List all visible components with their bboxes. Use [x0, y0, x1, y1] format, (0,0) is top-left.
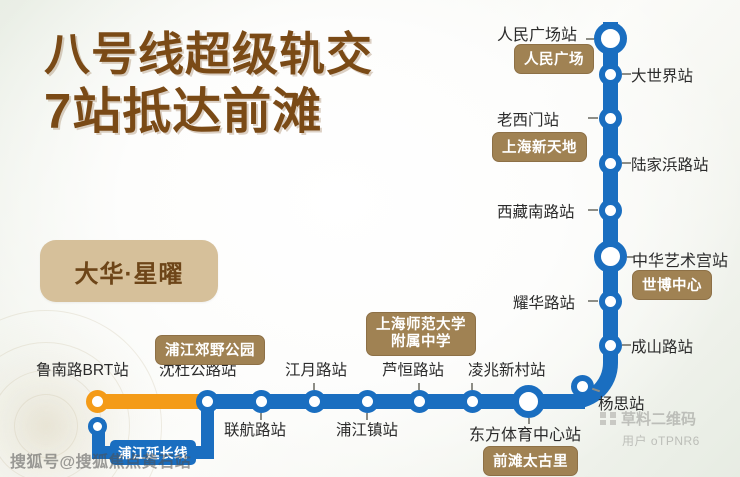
badge-line-2: 附属中学: [391, 334, 451, 350]
watermark-sohu: 搜狐号@搜狐焦点黄石站: [10, 448, 191, 472]
landmark-badge-qiantan-taikooli: 前滩太古里: [483, 446, 578, 476]
station-label-lianhang-lu: 联航路站: [224, 418, 286, 440]
station-dot-renmin-guangchang[interactable]: [594, 22, 627, 55]
station-dot-luheng-lu[interactable]: [408, 390, 431, 413]
station-tick: [622, 344, 631, 346]
badge-line-1: 上海师范大学: [376, 317, 466, 333]
station-tick: [586, 38, 594, 40]
brand-name: 大华·星曜: [75, 254, 184, 289]
station-label-renmin-guangchang: 人民广场站: [497, 21, 577, 45]
station-dot-lingzhao-xincun[interactable]: [461, 390, 484, 413]
station-label-laoximen: 老西门站: [497, 108, 559, 130]
station-label-zhonghua-yishugong: 中华艺术宫站: [632, 247, 728, 271]
station-tick: [471, 383, 473, 390]
landmark-badge-shanghai-shifan-fuzhong: 上海师范大学 附属中学: [366, 312, 476, 356]
station-dot-chengshan-lu[interactable]: [599, 334, 622, 357]
brand-chip: 大华·星曜: [40, 240, 218, 302]
headline-block: 八号线超级轨交 7站抵达前滩: [44, 30, 464, 139]
station-dot-yaohua-lu[interactable]: [599, 290, 622, 313]
station-dot-lujiabang-lu[interactable]: [599, 152, 622, 175]
station-dot-xizang-nanlu[interactable]: [599, 199, 622, 222]
watermark-qr-user: 用户 oTPNR6: [622, 432, 732, 449]
station-dot-laoximen[interactable]: [599, 107, 622, 130]
station-dot-jiangyue-lu[interactable]: [303, 390, 326, 413]
station-label-luheng-lu: 芦恒路站: [382, 358, 444, 380]
station-dot-zhonghua-yishugong[interactable]: [594, 240, 627, 273]
station-label-dongfang-tiyu-zhongxin: 东方体育中心站: [469, 421, 581, 445]
station-tick: [622, 73, 631, 75]
watermark-qr-title: 草料二维码: [621, 408, 696, 429]
poster-root: 八号线超级轨交 7站抵达前滩 大华·星曜 人民广场站 人民广场 大世界站 老西门…: [0, 0, 740, 477]
brt-line-segment: [92, 394, 212, 409]
station-tick: [313, 383, 315, 390]
landmark-badge-renmin-guangchang: 人民广场: [514, 44, 594, 74]
station-dot-lunan-lu-brt[interactable]: [86, 390, 109, 413]
station-tick: [588, 117, 598, 119]
station-dot-dongfang-tiyu-zhongxin[interactable]: [512, 385, 545, 418]
station-dot-extension-terminus[interactable]: [88, 417, 107, 436]
landmark-badge-shibo-zhongxin: 世博中心: [632, 270, 712, 300]
station-dot-dashijie[interactable]: [599, 63, 622, 86]
watermark-qr-block: 草料二维码 用户 oTPNR6: [600, 408, 732, 449]
station-label-dashijie: 大世界站: [631, 64, 693, 86]
station-label-pujiang-zhen: 浦江镇站: [336, 418, 398, 440]
headline-line-2: 7站抵达前滩: [44, 86, 464, 139]
landmark-badge-pujiang-jiaoye-gongyuan: 浦江郊野公园: [155, 335, 265, 365]
station-tick: [622, 162, 631, 164]
station-tick: [418, 383, 420, 390]
station-tick: [588, 300, 598, 302]
station-tick: [588, 209, 598, 211]
station-dot-shendu-gonglu[interactable]: [196, 390, 219, 413]
station-label-lujiabang-lu: 陆家浜路站: [631, 153, 709, 175]
station-label-chengshan-lu: 成山路站: [631, 335, 693, 357]
station-label-yaohua-lu: 耀华路站: [513, 291, 575, 313]
station-label-lingzhao-xincun: 凌兆新村站: [468, 358, 546, 380]
qrcode-icon: [600, 412, 616, 425]
station-label-lunan-lu-brt: 鲁南路BRT站: [36, 358, 129, 380]
landmark-badge-xintiandi: 上海新天地: [492, 132, 587, 162]
station-label-jiangyue-lu: 江月路站: [285, 358, 347, 380]
station-label-xizang-nanlu: 西藏南路站: [497, 200, 575, 222]
headline-line-1: 八号线超级轨交: [44, 30, 464, 80]
station-dot-yangsi[interactable]: [571, 375, 594, 398]
station-dot-lianhang-lu[interactable]: [250, 390, 273, 413]
station-dot-pujiang-zhen[interactable]: [356, 390, 379, 413]
